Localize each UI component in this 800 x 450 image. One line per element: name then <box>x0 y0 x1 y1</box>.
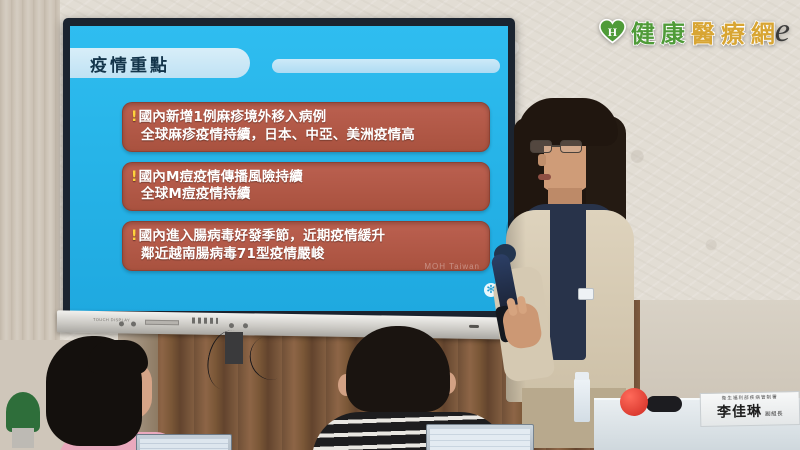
slide-bullet-list: !國內新增1例麻疹境外移入病例 全球麻疹疫情持續，日本、中亞、美洲疫情高 !國內… <box>122 102 490 271</box>
audience-left-bangs <box>88 340 148 374</box>
presentation-display: 疫情重點 !國內新增1例麻疹境外移入病例 全球麻疹疫情持續，日本、中亞、美洲疫情… <box>63 18 515 318</box>
photo-scene: 疫情重點 !國內新增1例麻疹境外移入病例 全球麻疹疫情持續，日本、中亞、美洲疫情… <box>0 0 800 450</box>
laptop-left-screen <box>140 438 228 450</box>
brand-char-1: 健 <box>631 14 656 49</box>
laptop-left <box>136 434 232 450</box>
laptop-middle <box>426 424 534 450</box>
audience-mid-hair <box>346 326 450 412</box>
bullet-text: 國內新增1例麻疹境外移入病例 <box>139 109 327 125</box>
display-button-menu[interactable] <box>131 322 136 327</box>
bullet-text: 國內M痘疫情傳播風險持續 <box>139 169 303 185</box>
slide: 疫情重點 !國內新增1例麻疹境外移入病例 全球麻疹疫情持續，日本、中亞、美洲疫情… <box>70 26 508 311</box>
water-bottle <box>574 378 590 422</box>
bullet-line-primary: !國內新增1例麻疹境外移入病例 <box>131 108 475 127</box>
exclamation-icon: ! <box>131 228 138 244</box>
speaker-badge <box>578 288 594 300</box>
display-brand-label: TOUCH DISPLAY <box>93 317 130 323</box>
slide-header: 疫情重點 <box>80 48 500 78</box>
slide-bullet-item: !國內M痘疫情傳播風險持續 全球M痘疫情持續 <box>122 162 490 212</box>
bullet-line-primary: !國內進入腸病毒好發季節，近期疫情緩升 <box>131 227 475 246</box>
audience-member-middle <box>318 326 498 450</box>
display-button-power[interactable] <box>119 321 124 326</box>
plant-pot <box>12 428 34 448</box>
slide-bullet-item: !國內新增1例麻疹境外移入病例 全球麻疹疫情持續，日本、中亞、美洲疫情高 <box>122 102 490 152</box>
speaker-person <box>492 92 652 402</box>
name-plate-person-name: 李佳琳 <box>717 401 762 422</box>
slide-title: 疫情重點 <box>90 51 170 76</box>
display-control-keys[interactable] <box>192 317 218 323</box>
exclamation-icon: ! <box>131 169 138 185</box>
speaker-vest-opening <box>550 210 586 360</box>
exclamation-icon: ! <box>131 109 138 125</box>
slide-title-pill: 疫情重點 <box>70 48 250 78</box>
desk-microphone <box>620 388 648 416</box>
brand-watermark: H 健 康 醫 療 網 e <box>599 12 790 50</box>
heart-h-icon: H <box>599 18 626 45</box>
bullet-line-secondary: 全球麻疹疫情持續，日本、中亞、美洲疫情高 <box>131 127 475 145</box>
brand-char-2: 康 <box>661 14 686 49</box>
slide-header-accent-bar <box>272 59 500 73</box>
bullet-line-primary: !國內M痘疫情傳播風險持續 <box>131 168 475 187</box>
name-plate-person-title: 副組長 <box>765 409 783 417</box>
brand-char-4: 療 <box>721 14 746 49</box>
display-port-panel <box>145 320 179 326</box>
slide-ghost-watermark: MOH Taiwan <box>424 262 480 271</box>
display-button-volume[interactable] <box>243 323 248 328</box>
audience-member-left <box>28 336 188 450</box>
name-plate: 衛生福利部疾病管制署 李佳琳 副組長 <box>700 391 800 427</box>
laptop-middle-screen <box>430 428 530 450</box>
glasses-lens-left <box>530 140 552 153</box>
speaker-glasses <box>530 140 586 153</box>
bullet-text: 國內進入腸病毒好發季節，近期疫情緩升 <box>139 228 386 244</box>
speaker-nose <box>538 154 546 166</box>
desk-microphone-stem <box>646 396 682 412</box>
speaker-mouth <box>538 174 551 180</box>
brand-char-3: 醫 <box>691 14 716 49</box>
display-button-input[interactable] <box>229 323 234 328</box>
water-bottle-cap <box>575 372 589 380</box>
bullet-line-secondary: 全球M痘疫情持續 <box>131 186 475 204</box>
brand-char-5: 網 <box>751 14 776 49</box>
potted-plant <box>6 392 40 432</box>
brand-trailing-letter: e <box>775 12 790 50</box>
heart-icon-letter: H <box>608 26 617 38</box>
name-plate-row: 李佳琳 副組長 <box>701 400 799 422</box>
glasses-bridge <box>552 145 560 147</box>
glasses-lens-right <box>560 140 582 153</box>
